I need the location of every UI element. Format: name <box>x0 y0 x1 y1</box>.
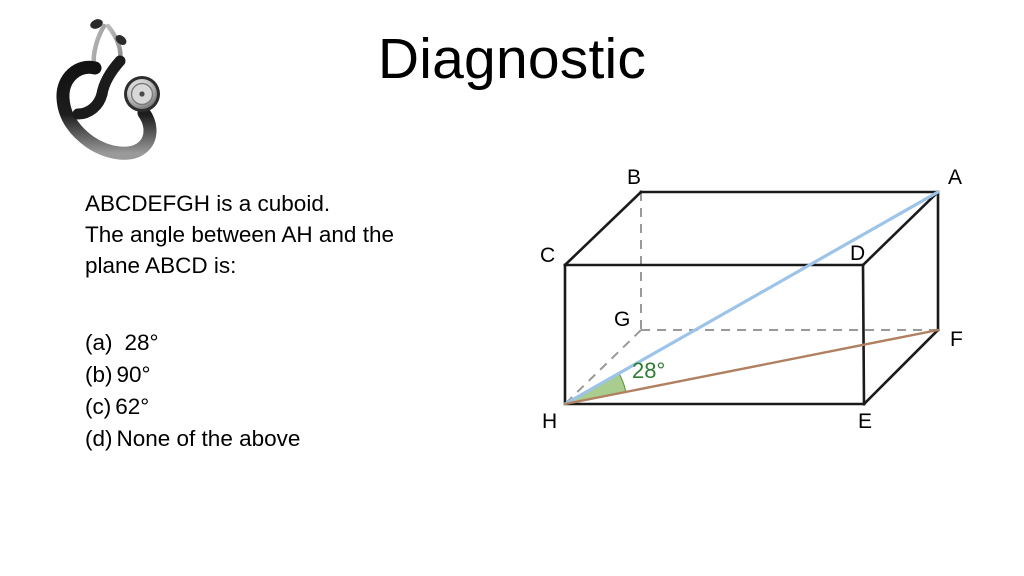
option-a-value: 28° <box>125 327 159 359</box>
cuboid-diagram: ABCDEFGH 28° <box>520 150 1010 450</box>
edge-CB <box>565 192 641 265</box>
vertex-label-E: E <box>858 410 872 433</box>
option-d-value: None of the above <box>117 423 301 455</box>
vertex-label-F: F <box>950 328 963 351</box>
option-d[interactable]: (d)None of the above <box>85 423 505 455</box>
option-a[interactable]: (a)28° <box>85 327 505 359</box>
question-line: plane ABCD is: <box>85 250 505 281</box>
angle-label-28: 28° <box>632 358 665 383</box>
slide-root: Diagnostic ABCDEFGH is a cuboid. The ang… <box>0 0 1024 576</box>
question-line: The angle between AH and the <box>85 219 505 250</box>
vertex-label-B: B <box>627 166 641 189</box>
line-HA <box>565 192 938 404</box>
option-c-value: 62° <box>115 391 149 423</box>
option-b-label: (b) <box>85 359 113 391</box>
answer-options: (a)28° (b)90° (c)62° (d)None of the abov… <box>85 327 505 455</box>
vertex-label-H: H <box>542 410 557 433</box>
option-c-label: (c) <box>85 391 111 423</box>
question-text: ABCDEFGH is a cuboid. The angle between … <box>85 188 505 281</box>
option-a-label: (a) <box>85 327 113 359</box>
vertex-label-C: C <box>540 244 555 267</box>
line-HF <box>565 330 938 404</box>
option-d-label: (d) <box>85 423 113 455</box>
option-c[interactable]: (c)62° <box>85 391 505 423</box>
edge-DE <box>863 265 864 404</box>
vertex-label-A: A <box>948 166 962 189</box>
question-line: ABCDEFGH is a cuboid. <box>85 188 505 219</box>
angle-label-group: 28° <box>632 358 665 383</box>
option-b[interactable]: (b)90° <box>85 359 505 391</box>
vertex-label-G: G <box>614 308 630 331</box>
vertex-label-D: D <box>850 242 865 265</box>
edge-EF <box>864 330 938 404</box>
page-title: Diagnostic <box>0 28 1024 91</box>
diagonal-lines <box>565 192 938 404</box>
option-b-value: 90° <box>117 359 151 391</box>
